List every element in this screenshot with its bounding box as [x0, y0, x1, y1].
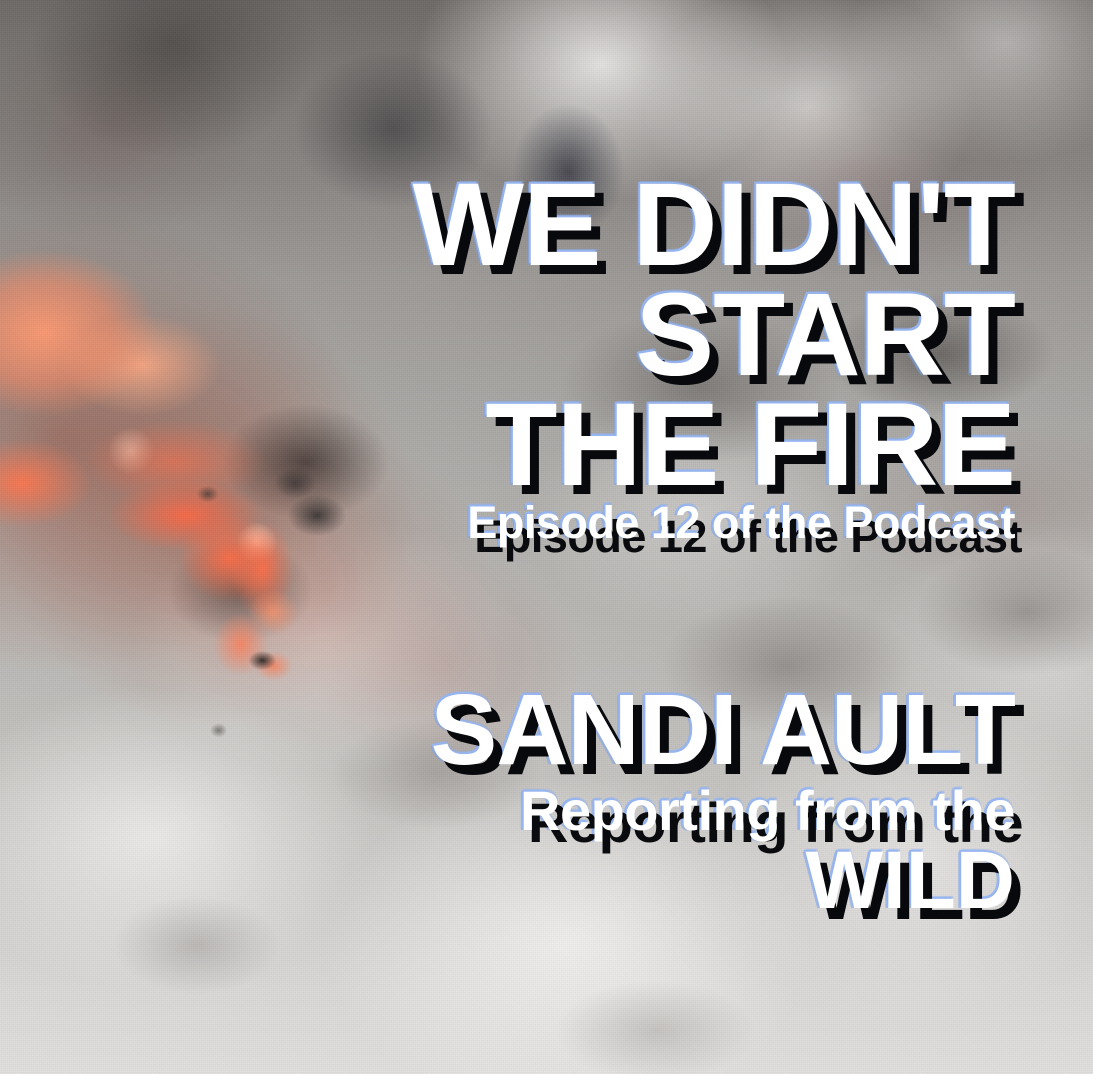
podcast-cover-art: WE DIDN'T START THE FIRE Episode 12 of t… — [0, 0, 1093, 1074]
title-block: WE DIDN'T START THE FIRE — [40, 170, 1015, 500]
smoke-base-gradient — [0, 0, 1093, 1074]
tagline-block: Reporting from the — [40, 782, 1015, 840]
subtitle-block: Episode 12 of the Podcast — [40, 498, 1015, 548]
title-line-1: WE DIDN'T — [40, 170, 1015, 280]
tagline-line-2: WILD — [40, 838, 1015, 924]
presenter-name: SANDI AULT — [40, 680, 1015, 780]
episode-subtitle: Episode 12 of the Podcast — [40, 498, 1015, 548]
charred-debris-layer — [0, 0, 1093, 1074]
presenter-name-block: SANDI AULT — [40, 680, 1015, 780]
dark-soot-layer — [0, 0, 1093, 1074]
flame-core-layer — [0, 0, 1093, 1074]
smoke-billows-layer — [0, 0, 1093, 1074]
tagline-wild-block: WILD — [40, 838, 1015, 924]
film-grain-overlay — [0, 0, 1093, 1074]
tagline-line-1: Reporting from the — [40, 782, 1015, 840]
title-line-3: THE FIRE — [40, 390, 1015, 500]
title-line-2: START — [40, 280, 1015, 390]
warm-fire-haze-layer — [0, 0, 1093, 1074]
